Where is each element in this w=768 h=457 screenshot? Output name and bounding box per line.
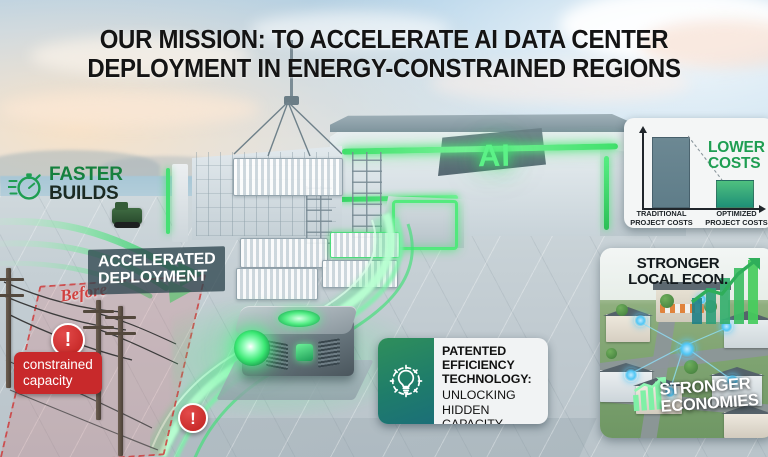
faster-builds-text: FASTER BUILDS (49, 166, 123, 203)
ai-building-label: AI (478, 138, 512, 175)
local-econ-line1: STRONGER (624, 256, 732, 272)
device-vent (318, 338, 340, 367)
x-label-traditional-line2: PROJECT COSTS (624, 219, 699, 228)
stronger-local-econ-label: STRONGER LOCAL ECON. (624, 256, 732, 288)
utility-tower-light (166, 168, 170, 234)
crane-rigging (228, 102, 346, 158)
patented-technology-card[interactable]: PATENTED EFFICIENCY TECHNOLOGY: UNLOCKIN… (378, 338, 548, 424)
efficiency-device (218, 300, 368, 404)
annex-accent-light (604, 156, 609, 230)
constrained-capacity-badge: constrained capacity (14, 352, 102, 394)
network-node (634, 314, 647, 327)
constrained-capacity-line2: capacity (23, 373, 93, 389)
data-center-roof (330, 114, 630, 132)
modular-container (240, 238, 328, 268)
accelerated-deployment-label: ACCELERATED DEPLOYMENT (88, 246, 225, 294)
entrance-glow (392, 200, 458, 250)
power-pole (118, 306, 123, 456)
faster-builds-line2: BUILDS (49, 185, 123, 204)
chart-x-tick-labels: TRADITIONAL PROJECT COSTS OPTIMIZED PROJ… (624, 210, 768, 227)
accelerated-line2: DEPLOYMENT (98, 268, 216, 288)
construction-vehicle (112, 208, 142, 224)
patented-line3: TECHNOLOGY: (442, 373, 541, 387)
lower-costs-line1: LOWER (708, 140, 765, 156)
cloud (0, 92, 260, 126)
faster-builds-line1: FASTER (49, 166, 123, 185)
patented-card-text: PATENTED EFFICIENCY TECHNOLOGY: UNLOCKIN… (434, 338, 548, 424)
device-indicator-panel (296, 344, 313, 361)
patented-line4: UNLOCKING (442, 388, 541, 402)
lower-costs-chart-card: LOWER COSTS TRADITIONAL PROJECT COSTS OP… (624, 118, 768, 228)
scaffold-tower (352, 152, 382, 238)
bar-optimized (716, 180, 754, 208)
faster-builds-callout: FASTER BUILDS (8, 166, 123, 203)
x-label-optimized-line2: PROJECT COSTS (699, 219, 768, 228)
local-econ-line2: LOCAL ECON. (624, 272, 732, 288)
x-label-optimized: OPTIMIZED PROJECT COSTS (699, 210, 768, 227)
modular-container (322, 260, 398, 288)
econ-house (724, 412, 768, 438)
lightbulb-gear-icon (386, 361, 426, 401)
title-line-2: DEPLOYMENT IN ENERGY-CONSTRAINED REGIONS (23, 55, 745, 84)
modular-container (233, 158, 343, 196)
device-emitter-lens (234, 330, 270, 366)
patented-line2: EFFICIENCY (442, 359, 541, 373)
network-node (678, 340, 696, 358)
patented-line1: PATENTED (442, 345, 541, 359)
utility-tower (172, 164, 188, 242)
lower-costs-line2: COSTS (708, 156, 765, 172)
patented-icon-panel (378, 338, 434, 424)
constrained-capacity-line1: constrained (23, 357, 93, 373)
page-title: OUR MISSION: TO ACCELERATE AI DATA CENTE… (23, 26, 745, 84)
lower-costs-label: LOWER COSTS (708, 140, 765, 172)
stopwatch-icon (8, 168, 42, 202)
infographic-canvas: AI (0, 0, 768, 457)
title-line-1: OUR MISSION: TO ACCELERATE AI DATA CENTE… (23, 26, 745, 55)
modular-container (330, 232, 400, 258)
power-pole (6, 268, 11, 388)
device-top-ring-light (278, 310, 320, 327)
stronger-economies-label: STRONGER ECONOMIES (659, 374, 768, 415)
x-label-traditional: TRADITIONAL PROJECT COSTS (624, 210, 699, 227)
patented-line5: HIDDEN CAPACITY (442, 403, 541, 424)
bar-traditional (652, 137, 690, 208)
